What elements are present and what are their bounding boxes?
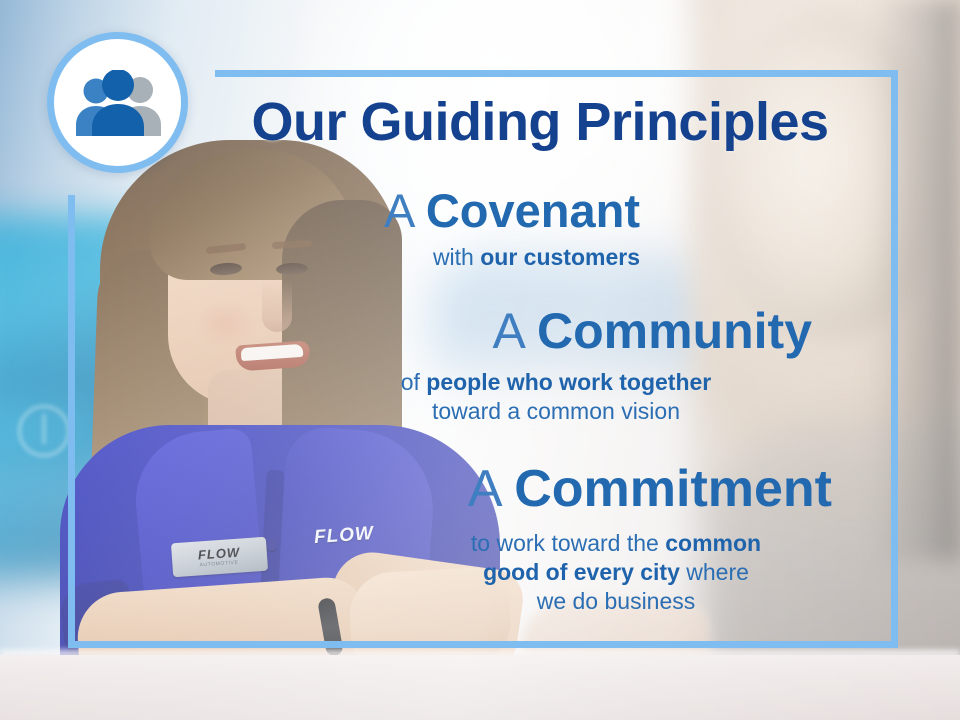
principle-block-commitment: A Commitment to work toward the commongo… [400, 462, 832, 617]
people-group-icon [70, 70, 166, 136]
principle-block-covenant: A Covenant with our customers [240, 186, 640, 273]
right-edge-shadow [870, 0, 960, 560]
principle-word: Commitment [514, 460, 832, 518]
principle-detail: with our customers [240, 243, 640, 272]
page-title: Our Guiding Principles [200, 94, 880, 151]
people-group-badge [47, 32, 188, 173]
guiding-principles-graphic: FLOW AUTOMOTIVE FLOW [0, 0, 960, 720]
principle-heading: A Covenant [240, 186, 640, 235]
principle-detail: to work toward the commongood of every c… [400, 529, 832, 617]
table-surface [0, 655, 960, 720]
principle-detail: of people who work togethertoward a comm… [300, 368, 812, 427]
nose [262, 280, 292, 332]
principle-article: A [493, 303, 524, 359]
principle-article: A [384, 184, 413, 237]
principle-word: Community [537, 303, 812, 359]
principle-heading: A Community [300, 305, 812, 358]
cheek-highlight [196, 300, 256, 348]
principle-block-community: A Community of people who work togethert… [300, 305, 812, 426]
principle-word: Covenant [426, 184, 640, 237]
principle-article: A [468, 460, 500, 518]
polo-button [266, 540, 277, 551]
principle-heading: A Commitment [400, 462, 832, 517]
